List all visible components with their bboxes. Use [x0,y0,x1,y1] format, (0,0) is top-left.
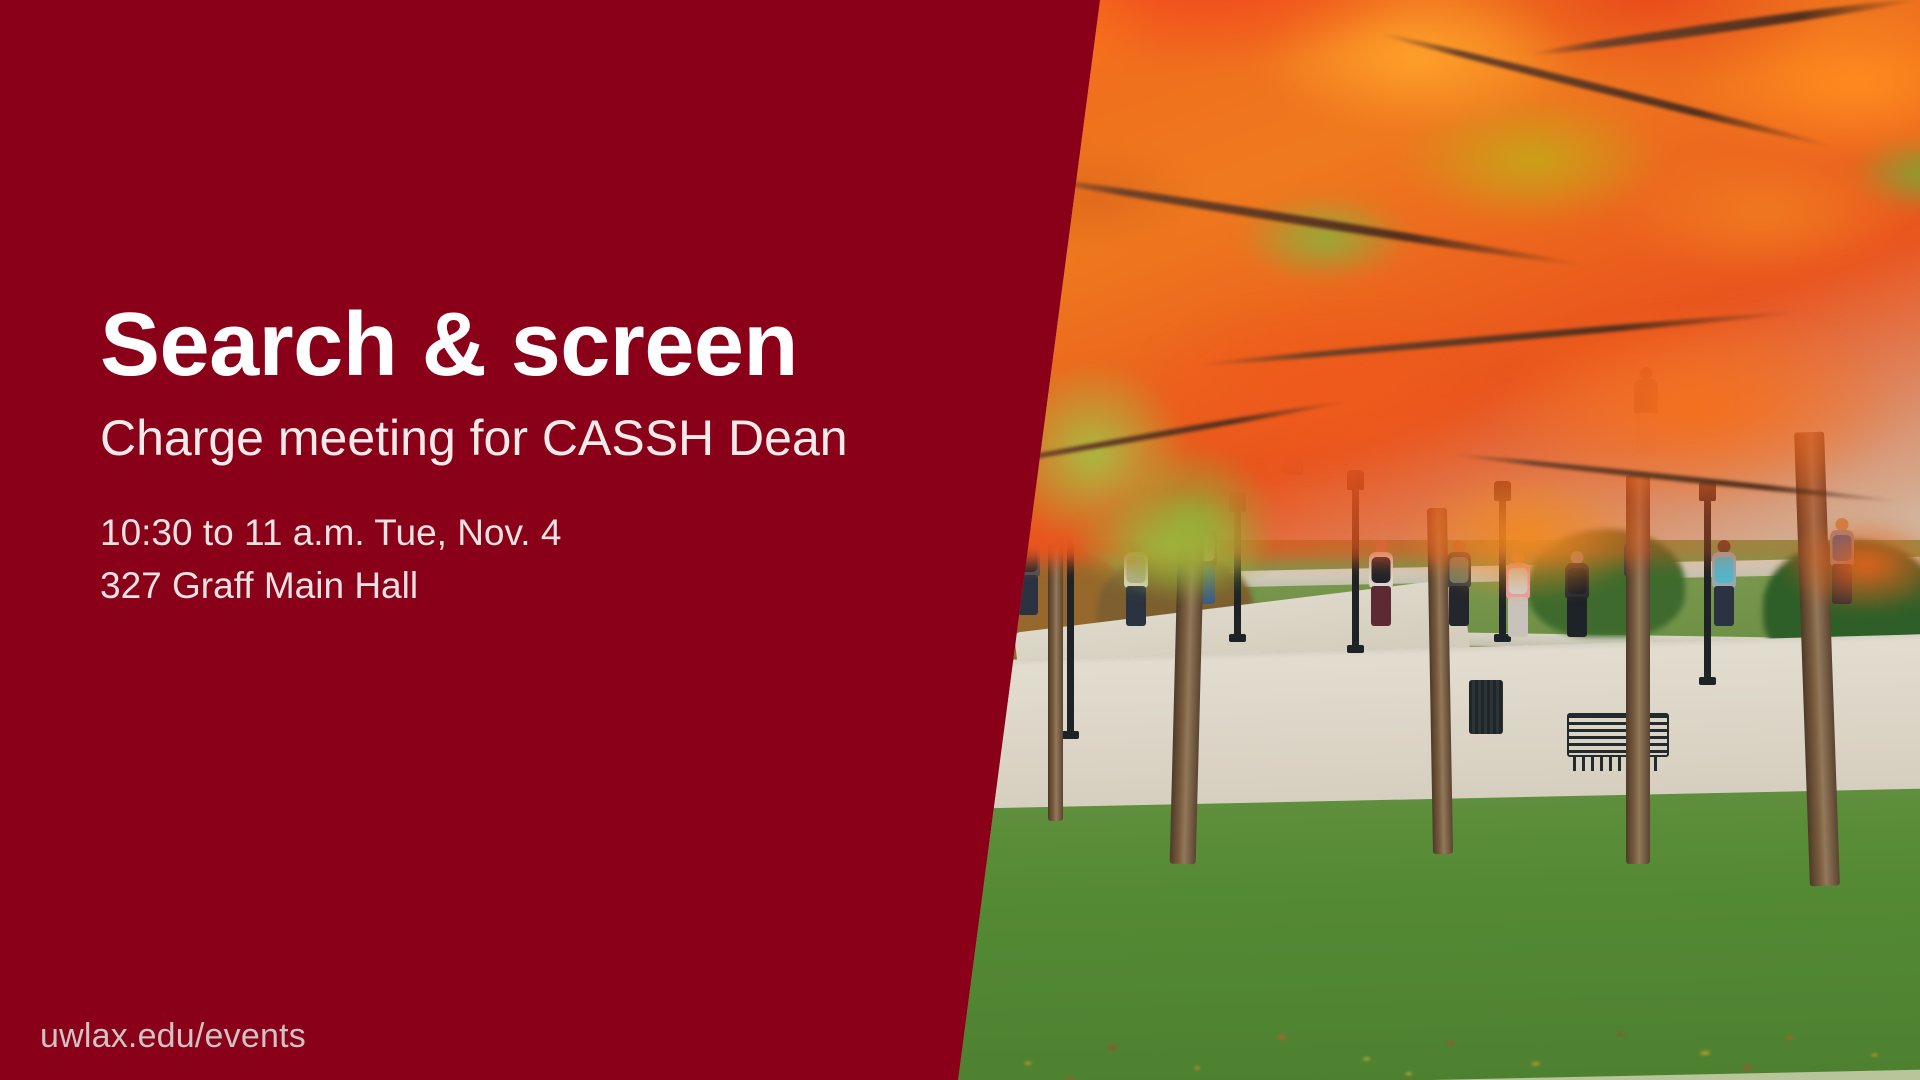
campus-photo-scene [940,0,1920,1080]
event-slide: Search & screen Charge meeting for CASSH… [0,0,1920,1080]
event-time: 10:30 to 11 a.m. Tue, Nov. 4 [100,507,960,560]
event-text-block: Search & screen Charge meeting for CASSH… [100,300,960,612]
event-location: 327 Graff Main Hall [100,560,960,613]
near-lawn [940,788,1920,1080]
fallen-leaves [940,1013,1920,1080]
event-subtitle: Charge meeting for CASSH Dean [100,412,960,465]
footer-url-link[interactable]: uwlax.edu/events [40,1017,306,1056]
page-title: Search & screen [100,300,960,390]
